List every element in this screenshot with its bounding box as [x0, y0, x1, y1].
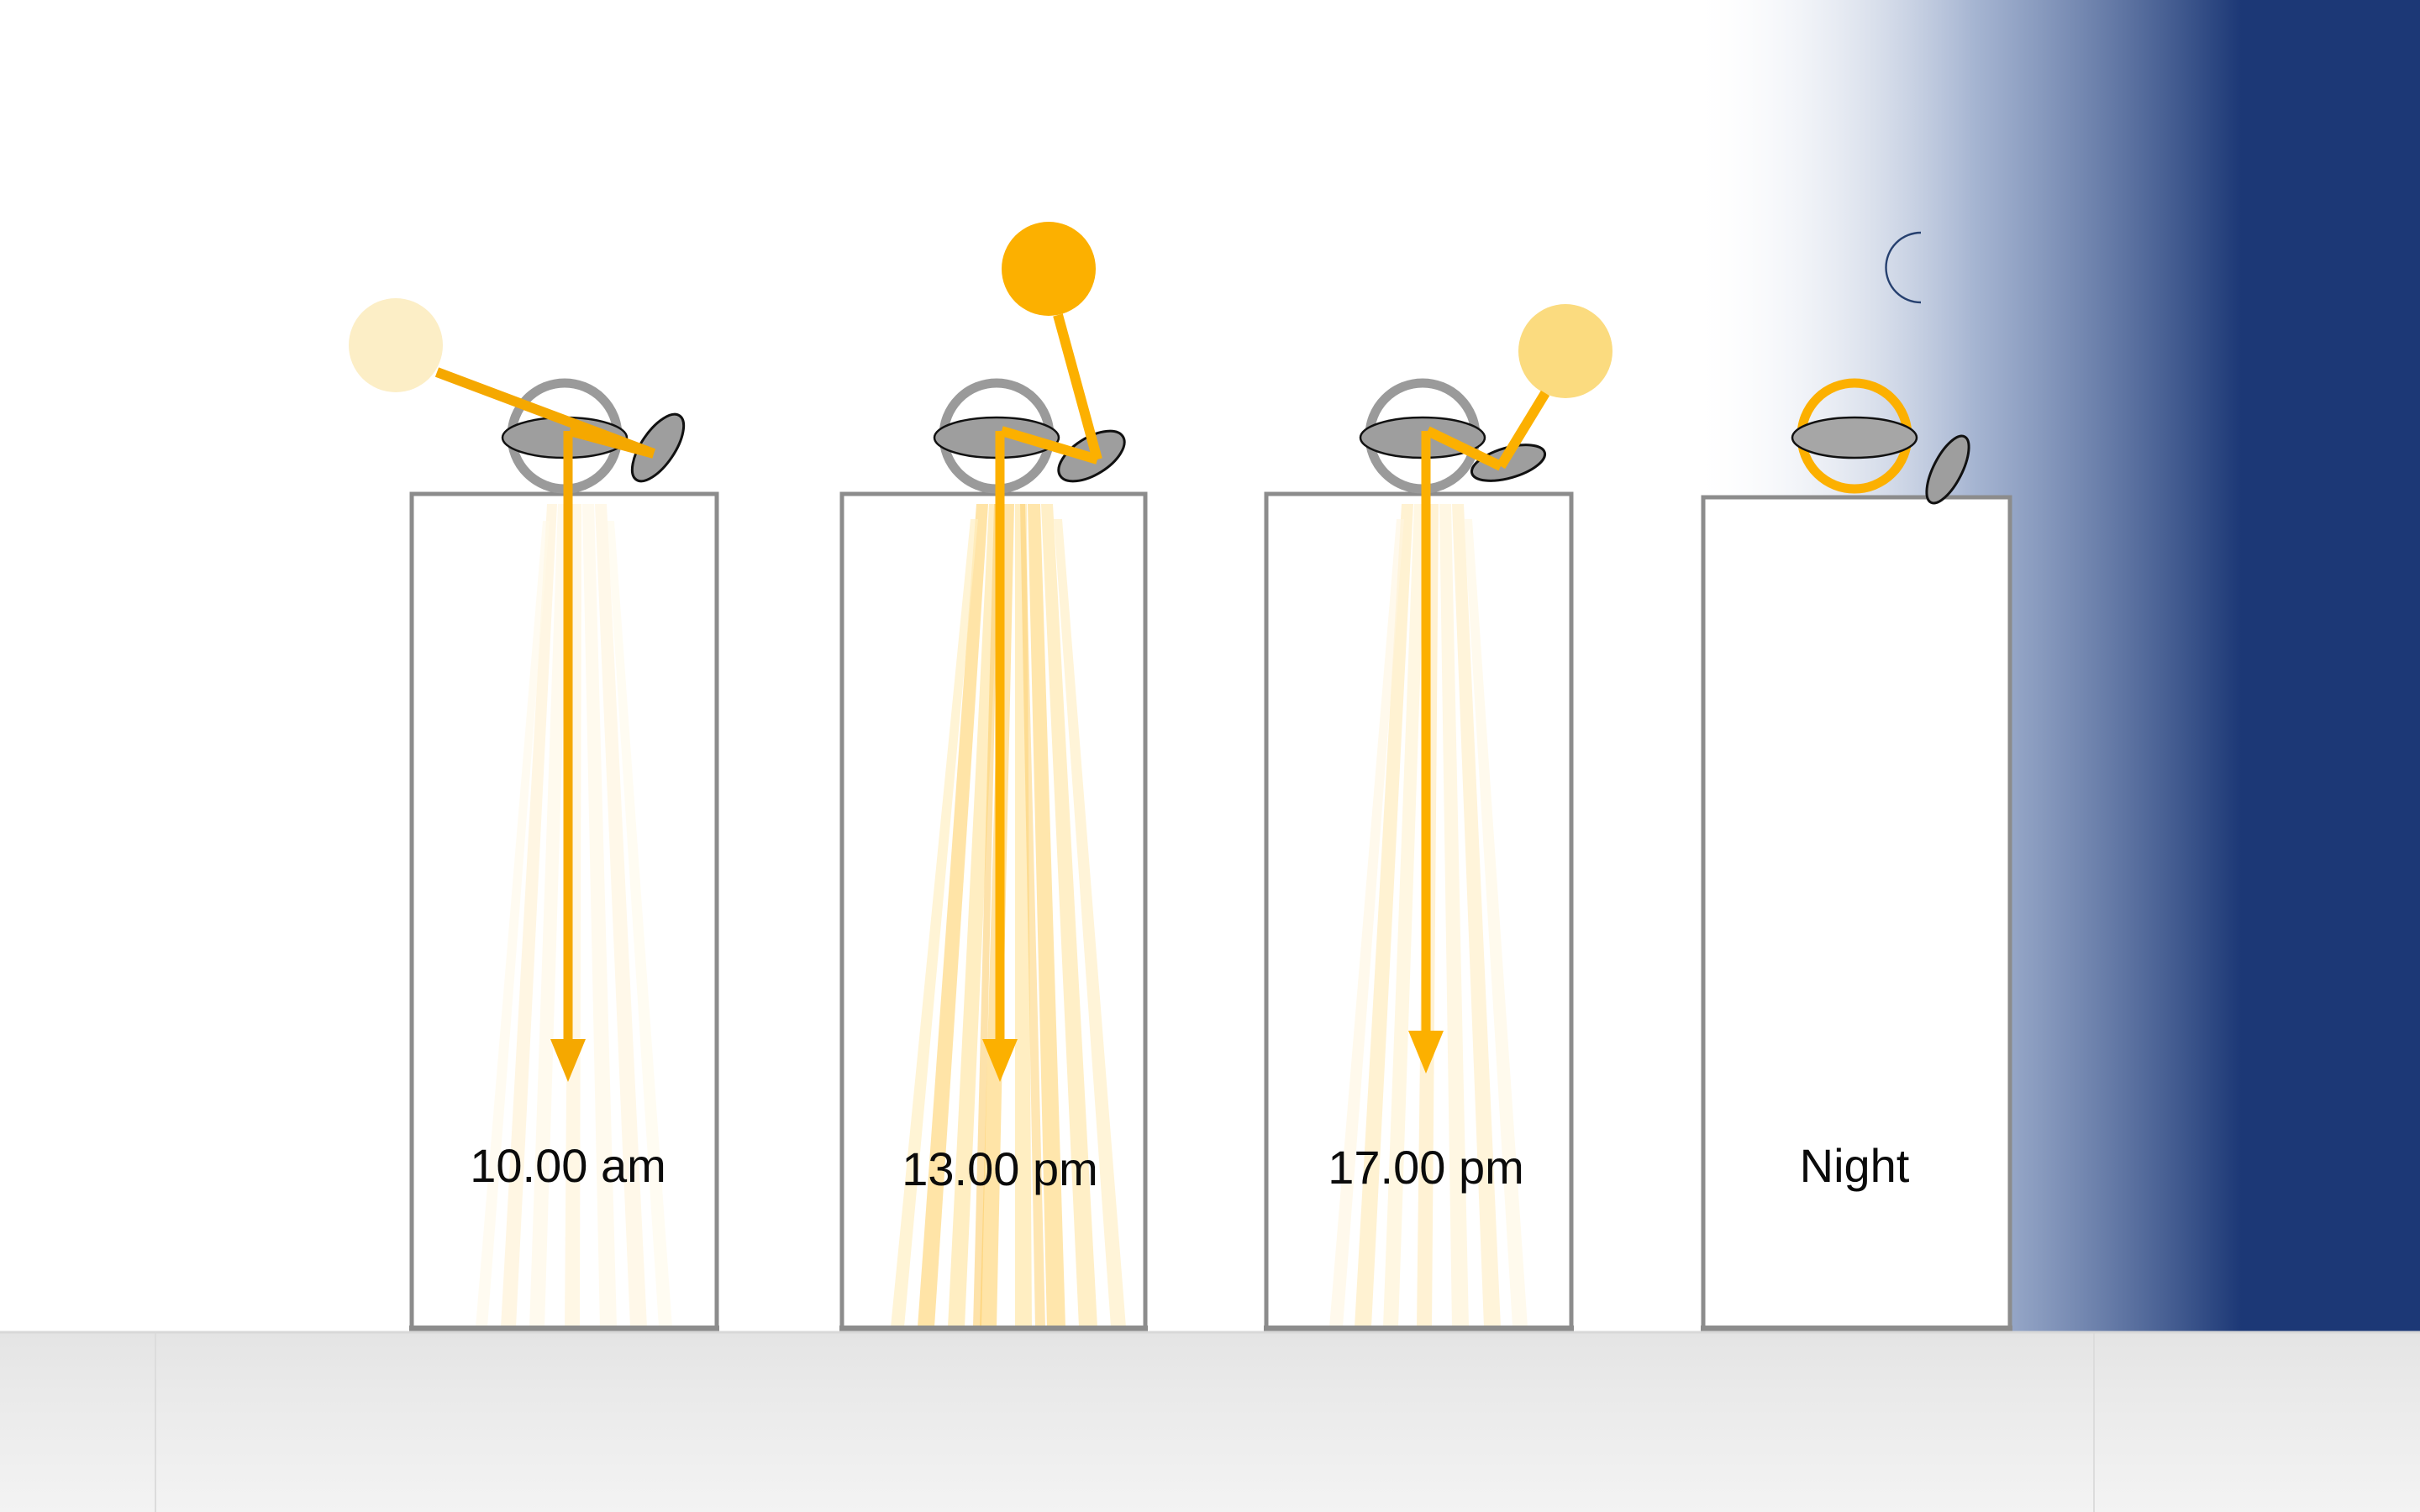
collector-disc-night	[1792, 417, 1917, 458]
floor-surface	[0, 1331, 2420, 1512]
panel-night: Night	[1701, 383, 2012, 1335]
panel-label-morning: 10.00 am	[470, 1139, 666, 1192]
panel-label-night: Night	[1800, 1139, 1910, 1192]
panel-label-afternoon: 17.00 pm	[1328, 1141, 1524, 1194]
light-shaft-box-night	[1703, 497, 2010, 1330]
daylight-system-diagram: 10.00 am	[0, 0, 2420, 1512]
sun-noon-icon	[1002, 222, 1096, 316]
sun-afternoon-icon	[1518, 304, 1612, 398]
sun-morning-icon	[349, 298, 443, 392]
diagram-stage: 10.00 am	[0, 0, 2420, 1512]
panel-label-noon: 13.00 pm	[902, 1142, 1098, 1195]
